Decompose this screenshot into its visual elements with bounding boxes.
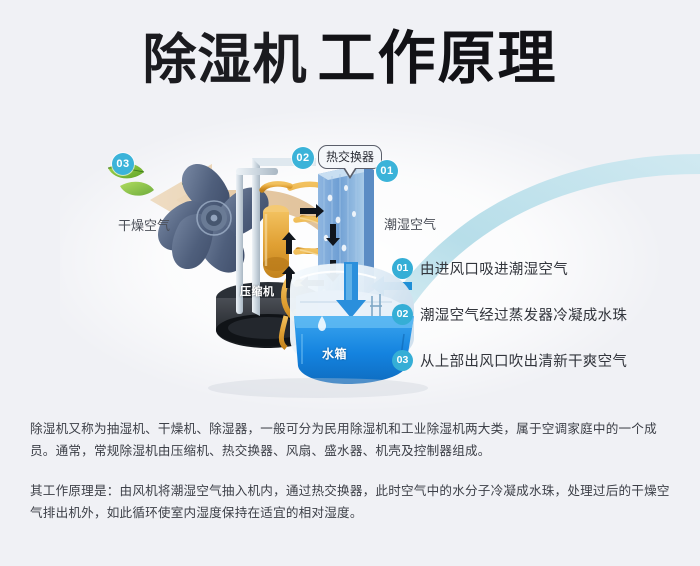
step-text: 潮湿空气经过蒸发器冷凝成水珠	[420, 304, 627, 325]
step-list: 01 由进风口吸进潮湿空气 02 潮湿空气经过蒸发器冷凝成水珠 03 从上部出风…	[392, 256, 692, 394]
step-text: 从上部出风口吹出清新干爽空气	[420, 350, 627, 371]
callout-heat-exchanger-label: 热交换器	[326, 150, 374, 164]
paragraph-definition: 除湿机又称为抽湿机、干燥机、除湿器，一般可分为民用除湿机和工业除湿机两大类，属于…	[30, 418, 678, 462]
callout-heat-exchanger: 热交换器	[318, 145, 382, 169]
step-badge: 01	[392, 258, 413, 279]
label-water-tank: 水箱	[322, 345, 347, 362]
label-dry-air: 干燥空气	[118, 215, 170, 234]
list-item: 03 从上部出风口吹出清新干爽空气	[392, 348, 692, 372]
step-badge: 02	[392, 304, 413, 325]
compressor-icon	[263, 205, 289, 278]
label-compressor: 压缩机	[240, 283, 275, 299]
label-humid-air: 潮湿空气	[384, 214, 436, 233]
list-item: 02 潮湿空气经过蒸发器冷凝成水珠	[392, 302, 692, 326]
callout-tail-inner	[345, 168, 355, 176]
page-title: 除湿机工作原理	[0, 30, 700, 88]
title-part-two: 工作原理	[317, 26, 557, 91]
badge-03-diagram: 03	[112, 153, 134, 175]
list-item: 01 由进风口吸进潮湿空气	[392, 256, 692, 280]
step-text: 由进风口吸进潮湿空气	[420, 258, 568, 279]
paragraph-principle: 其工作原理是：由风机将潮湿空气抽入机内，通过热交换器，此时空气中的水分子冷凝成水…	[30, 480, 678, 524]
body-copy: 除湿机又称为抽湿机、干燥机、除湿器，一般可分为民用除湿机和工业除湿机两大类，属于…	[30, 418, 678, 542]
step-badge: 03	[392, 350, 413, 371]
title-part-one: 除湿机	[142, 28, 307, 91]
infographic-page: 除湿机工作原理	[0, 0, 700, 566]
badge-01-diagram: 01	[376, 160, 398, 182]
badge-02-diagram: 02	[292, 147, 314, 169]
